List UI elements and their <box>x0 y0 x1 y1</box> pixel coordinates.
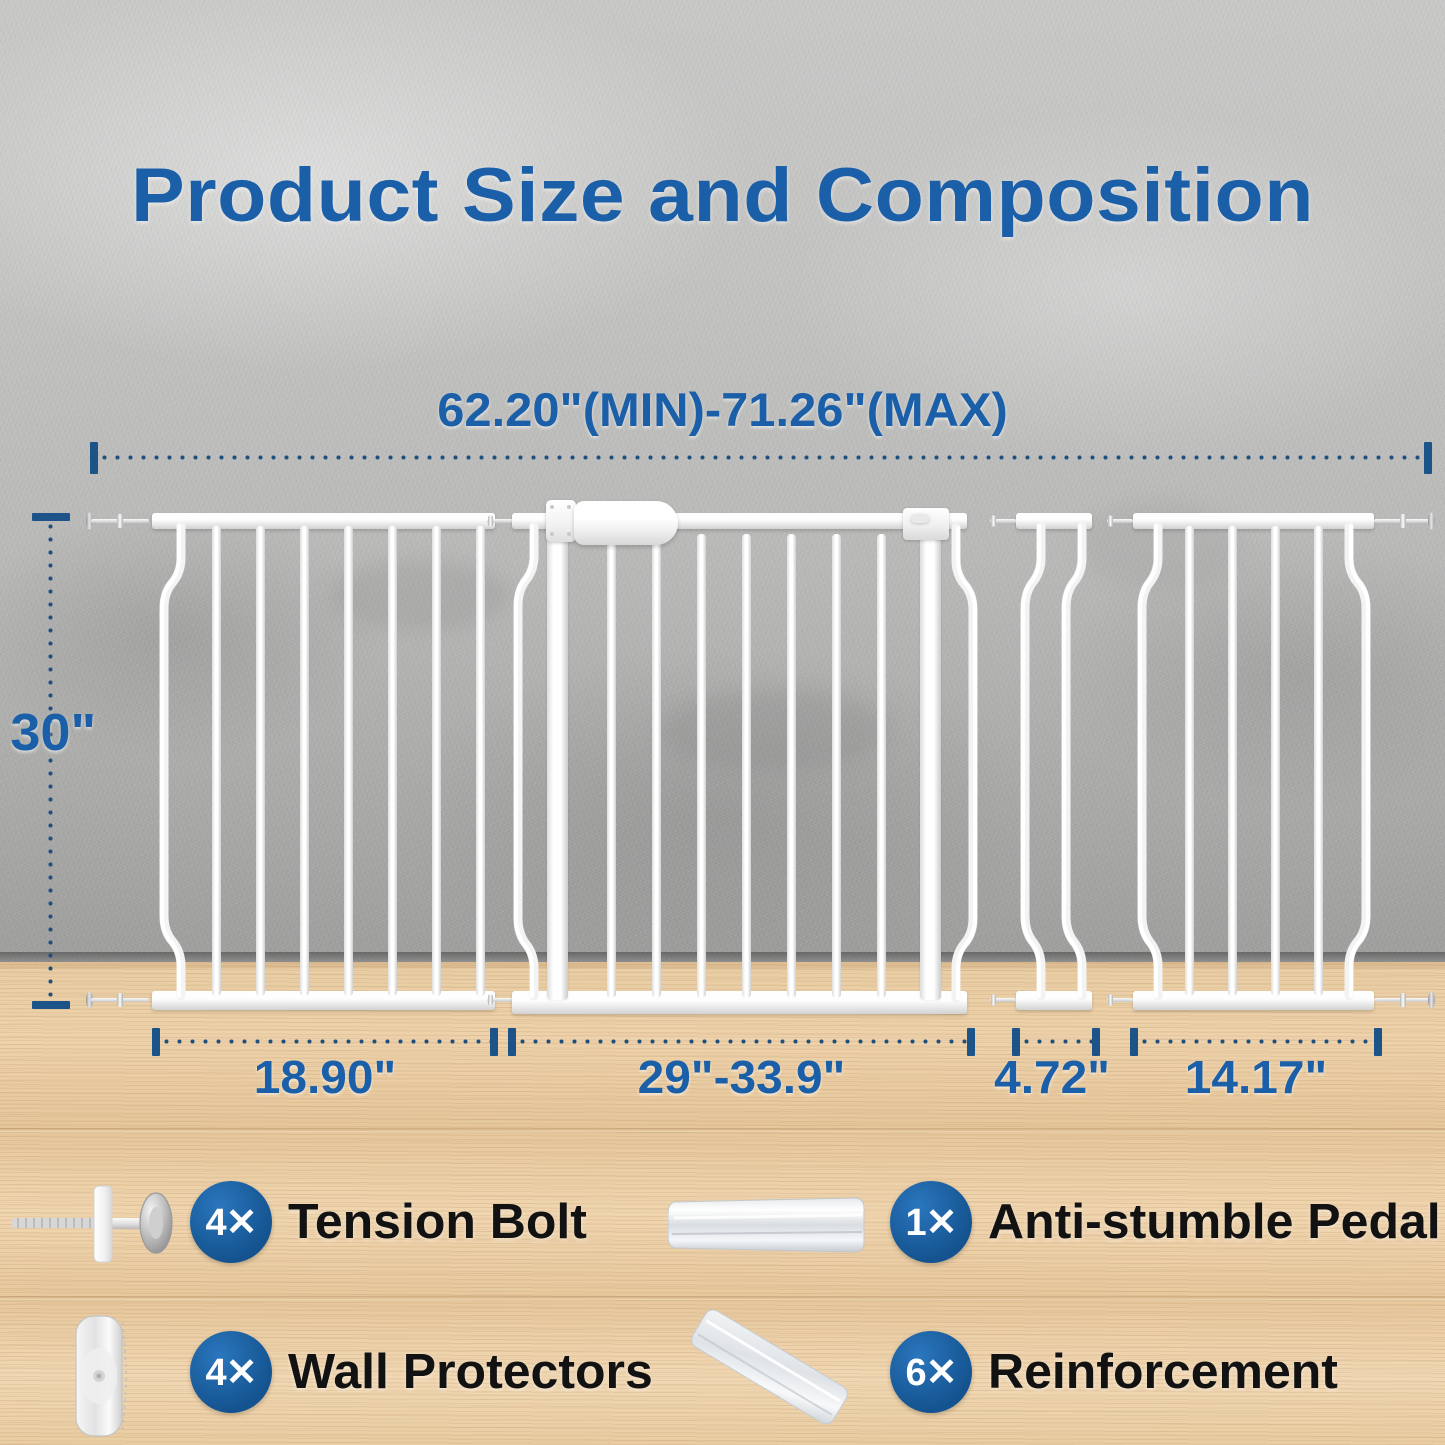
left-panel-bottom-tension-bolt <box>86 991 152 1009</box>
tension-bolt-flange-icon <box>1108 995 1113 1006</box>
segment-3-label: 14.17" <box>1125 1050 1387 1104</box>
center-gate-bar-4 <box>742 534 751 998</box>
segment-1-label: 29"-33.9" <box>499 1050 985 1104</box>
segment-0-label: 18.90" <box>145 1050 505 1104</box>
tension-bolt-knob-icon <box>1428 992 1435 1009</box>
segment-1-dimension-line <box>516 1039 967 1044</box>
center-gate-edge-bar-right <box>950 528 982 998</box>
large-extension-right-bottom-bolt <box>1374 991 1440 1009</box>
center-gate-right-post <box>920 528 941 1000</box>
left-panel-top-rail <box>152 513 495 529</box>
part-row-anti-stumble-pedal: 1✕ Anti-stumble Pedal <box>890 1162 1432 1282</box>
tension-bolt-flange-icon <box>488 516 493 527</box>
tension-bolt-icon <box>10 1180 180 1266</box>
large-extension-bar-1 <box>1185 526 1194 996</box>
large-extension-left-top-bolt <box>1107 513 1137 529</box>
small-extension-bottom-bolt <box>990 992 1020 1008</box>
gate-handle-housing[interactable] <box>546 500 576 542</box>
segment-0-dimension-line <box>160 1039 490 1044</box>
small-extension-bar-left <box>1019 526 1049 996</box>
gate-latch-receiver[interactable] <box>903 508 949 540</box>
handle-screw-icon <box>567 505 571 509</box>
part-row-reinforcement: 6✕ Reinforcement <box>890 1312 1331 1432</box>
large-extension-bar-3 <box>1271 526 1280 996</box>
part-qty-badge: 4✕ <box>190 1331 272 1413</box>
part-row-tension-bolt: 4✕ Tension Bolt <box>190 1162 581 1282</box>
left-panel-bar-2 <box>256 526 265 996</box>
gate-handle-grip[interactable] <box>574 501 678 545</box>
segment-2-label: 4.72" <box>982 1050 1121 1104</box>
left-panel-bar-1 <box>212 526 221 996</box>
gate-latch-tab <box>911 514 929 523</box>
page-title: Product Size and Composition <box>0 152 1445 239</box>
handle-screw-icon <box>550 532 554 536</box>
part-qty-badge: 4✕ <box>190 1181 272 1263</box>
center-gate-bar-7 <box>877 534 886 998</box>
left-panel-bar-3 <box>300 526 309 996</box>
large-extension-right-top-bolt <box>1374 512 1440 530</box>
part-qty-badge: 1✕ <box>890 1181 972 1263</box>
part-row-wall-protectors: 4✕ Wall Protectors <box>190 1312 646 1432</box>
large-extension-edge-bar-right <box>1343 526 1375 996</box>
segment-3-dimension-line <box>1138 1039 1374 1044</box>
center-gate-left-post <box>547 528 568 1000</box>
small-extension-bar-right <box>1060 526 1090 996</box>
left-panel-bottom-rail <box>152 991 495 1010</box>
left-panel-bar-6 <box>432 526 441 996</box>
large-extension-edge-bar-left <box>1136 526 1166 996</box>
large-extension-left-bottom-bolt <box>1107 992 1137 1008</box>
part-label: Wall Protectors <box>288 1344 653 1400</box>
tension-bolt-flange-icon <box>117 514 123 528</box>
large-extension-bar-4 <box>1314 526 1323 996</box>
left-panel-bar-5 <box>388 526 397 996</box>
tension-bolt-flange-icon <box>117 993 123 1007</box>
center-gate-bar-2 <box>652 534 661 998</box>
parts-list: 4✕ Tension Bolt <box>0 1140 1445 1445</box>
segment-2-dimension-line <box>1020 1039 1092 1044</box>
part-qty-badge: 6✕ <box>890 1331 972 1413</box>
large-extension-bar-2 <box>1228 526 1237 996</box>
tension-bolt-flange-icon <box>1400 993 1406 1007</box>
wall-stain-2 <box>660 690 890 770</box>
center-gate-bar-6 <box>832 534 841 998</box>
height-label: 30" <box>10 703 96 763</box>
handle-screw-icon <box>550 505 554 509</box>
left-panel-edge-bar-left <box>155 526 189 996</box>
part-label: Reinforcement <box>988 1344 1338 1400</box>
center-gate-bottom-rail <box>512 991 967 1014</box>
overall-width-label: 62.20"(MIN)-71.26"(MAX) <box>0 382 1445 437</box>
tension-bolt-flange-icon <box>1108 516 1113 527</box>
tension-bolt-flange-icon <box>991 995 996 1006</box>
tension-bolt-flange-icon <box>991 516 996 527</box>
part-label: Tension Bolt <box>288 1194 587 1250</box>
large-extension-top-rail <box>1133 513 1374 529</box>
tension-bolt-flange-icon <box>488 995 493 1006</box>
left-panel-top-tension-bolt <box>86 512 152 530</box>
tension-bolt-flange-icon <box>1400 514 1406 528</box>
left-panel-bar-4 <box>344 526 353 996</box>
infographic-stage: Product Size and Composition 62.20"(MIN)… <box>0 0 1445 1445</box>
overall-width-cap-left <box>90 442 98 474</box>
center-gate-bar-3 <box>697 534 706 998</box>
small-extension-top-bolt <box>990 513 1020 529</box>
floor-plank-seam-1 <box>0 1128 1445 1132</box>
left-panel-bar-7 <box>476 526 485 996</box>
wall-protector-icon <box>64 1312 160 1440</box>
anti-stumble-pedal-icon <box>668 1188 868 1262</box>
overall-width-dimension-line <box>98 455 1426 460</box>
tension-bolt-knob-icon <box>1428 513 1435 530</box>
reinforcement-icon <box>680 1298 860 1434</box>
part-label: Anti-stumble Pedal <box>988 1194 1441 1250</box>
center-gate-edge-bar-left <box>512 526 542 996</box>
handle-screw-icon <box>567 532 571 536</box>
center-gate-bar-1 <box>607 534 616 998</box>
large-extension-bottom-rail <box>1133 991 1374 1010</box>
center-gate-bar-5 <box>787 534 796 998</box>
